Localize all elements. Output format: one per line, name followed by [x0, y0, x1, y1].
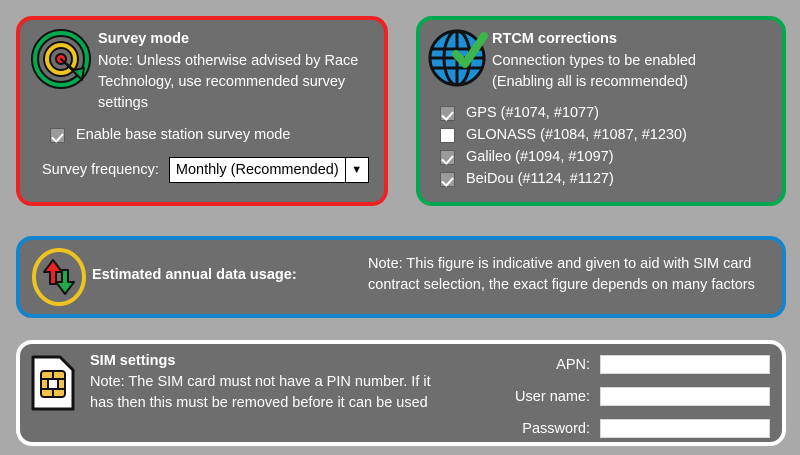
rtcm-item-beidou[interactable]: BeiDou (#1124, #1127)	[440, 168, 687, 190]
estimated-data-usage-note: Note: This figure is indicative and give…	[368, 254, 768, 296]
rtcm-label-beidou: BeiDou (#1124, #1127)	[466, 171, 614, 187]
apn-row: APN:	[440, 353, 770, 376]
survey-frequency-row: Survey frequency: Monthly (Recommended) …	[42, 157, 369, 183]
survey-frequency-label: Survey frequency:	[42, 162, 159, 178]
survey-target-icon	[30, 28, 92, 95]
survey-mode-note: Note: Unless otherwise advised by Race T…	[98, 51, 376, 114]
survey-frequency-select[interactable]: Monthly (Recommended) ▼	[169, 157, 369, 183]
enable-survey-mode-checkbox[interactable]	[50, 128, 65, 143]
rtcm-label-galileo: Galileo (#1094, #1097)	[466, 149, 614, 165]
rtcm-label-glonass: GLONASS (#1084, #1087, #1230)	[466, 127, 687, 143]
data-transfer-arrows-icon	[28, 246, 90, 313]
user-name-input[interactable]	[600, 387, 770, 406]
password-row: Password:	[440, 417, 770, 440]
rtcm-item-glonass[interactable]: GLONASS (#1084, #1087, #1230)	[440, 124, 687, 146]
password-label: Password:	[522, 421, 590, 437]
sim-settings-fields: APN: User name: Password:	[440, 353, 770, 449]
survey-text-block: Survey mode Note: Unless otherwise advis…	[98, 30, 376, 114]
rtcm-checkbox-beidou[interactable]	[440, 172, 455, 187]
estimated-data-usage-label: Estimated annual data usage:	[92, 267, 297, 283]
rtcm-corrections-panel: RTCM corrections Connection types to be …	[416, 16, 786, 206]
rtcm-heading: RTCM corrections	[492, 30, 777, 48]
rtcm-note-line-1: Connection types to be enabled	[492, 51, 777, 72]
rtcm-checkbox-gps[interactable]	[440, 106, 455, 121]
apn-input[interactable]	[600, 355, 770, 374]
globe-check-icon	[428, 26, 490, 93]
survey-mode-panel: Survey mode Note: Unless otherwise advis…	[16, 16, 388, 206]
rtcm-checkbox-glonass[interactable]	[440, 128, 455, 143]
survey-frequency-value: Monthly (Recommended)	[170, 158, 345, 182]
sim-settings-heading: SIM settings	[90, 352, 450, 370]
rtcm-checkbox-galileo[interactable]	[440, 150, 455, 165]
survey-mode-heading: Survey mode	[98, 30, 376, 48]
rtcm-label-gps: GPS (#1074, #1077)	[466, 105, 599, 121]
password-input[interactable]	[600, 419, 770, 438]
rtcm-note-line-2: (Enabling all is recommended)	[492, 72, 777, 93]
sim-settings-note: Note: The SIM card must not have a PIN n…	[90, 372, 450, 414]
sim-text-block: SIM settings Note: The SIM card must not…	[90, 352, 450, 414]
estimated-data-usage-panel: Estimated annual data usage: Note: This …	[16, 236, 786, 318]
chevron-down-icon[interactable]: ▼	[345, 158, 368, 182]
user-name-row: User name:	[440, 385, 770, 408]
sim-settings-panel: SIM settings Note: The SIM card must not…	[16, 340, 786, 446]
rtcm-constellation-list: GPS (#1074, #1077) GLONASS (#1084, #1087…	[440, 102, 687, 190]
enable-survey-mode-label: Enable base station survey mode	[76, 127, 290, 143]
user-name-label: User name:	[515, 389, 590, 405]
rtcm-text-block: RTCM corrections Connection types to be …	[492, 30, 777, 93]
rtcm-item-galileo[interactable]: Galileo (#1094, #1097)	[440, 146, 687, 168]
rtcm-item-gps[interactable]: GPS (#1074, #1077)	[440, 102, 687, 124]
sim-card-icon	[30, 354, 76, 417]
apn-label: APN:	[556, 357, 590, 373]
enable-survey-mode-checkbox-row[interactable]: Enable base station survey mode	[50, 127, 290, 143]
